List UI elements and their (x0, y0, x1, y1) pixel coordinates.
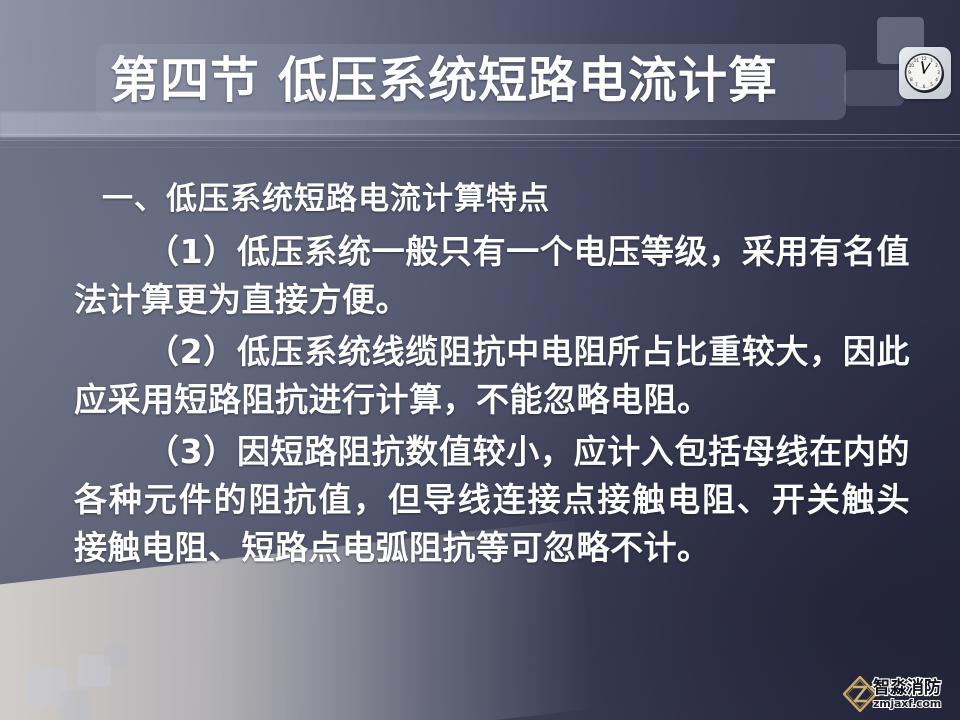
decor-square-bottom-left-2 (60, 690, 90, 720)
watermark-url: zmjaxf.com (873, 698, 941, 709)
svg-text:8: 8 (910, 77, 913, 82)
svg-text:2: 2 (935, 63, 938, 68)
svg-text:9: 9 (908, 70, 911, 75)
title-divider-line-1 (0, 134, 960, 135)
svg-text:7: 7 (915, 82, 918, 87)
body-paragraph-2: （2）低压系统线缆阻抗中电阻所占比重较大，因此应采用短路阻抗进行计算，不能忽略电… (74, 328, 910, 424)
decor-square-bottom-left-4 (104, 645, 128, 667)
page-title: 第四节 低压系统短路电流计算 (110, 48, 870, 114)
watermark: 智淼消防 zmjaxf.com (843, 672, 955, 716)
svg-text:4: 4 (935, 77, 938, 82)
title-divider-line-3 (0, 147, 960, 148)
clock-icon: 12 1 2 3 4 5 6 7 8 9 10 11 (899, 47, 951, 99)
svg-text:5: 5 (930, 82, 933, 87)
presentation-slide: 12 1 2 3 4 5 6 7 8 9 10 11 第四节 低压系统短路电流计… (0, 0, 960, 720)
svg-text:3: 3 (937, 70, 940, 75)
watermark-brand: 智淼消防 (873, 680, 941, 697)
body-paragraph-1: （1）低压系统一般只有一个电压等级，采用有名值法计算更为直接方便。 (74, 228, 910, 324)
svg-text:1: 1 (930, 58, 933, 63)
watermark-text: 智淼消防 zmjaxf.com (873, 680, 941, 709)
svg-text:12: 12 (921, 56, 927, 61)
svg-text:10: 10 (909, 63, 915, 68)
svg-text:6: 6 (923, 84, 926, 89)
title-divider-line-2 (0, 140, 960, 141)
slide-body: 一、低压系统短路电流计算特点 （1）低压系统一般只有一个电压等级，采用有名值法计… (74, 176, 910, 572)
svg-text:11: 11 (914, 58, 920, 63)
zhimiao-logo-icon (843, 676, 877, 712)
section-heading: 一、低压系统短路电流计算特点 (74, 176, 910, 222)
body-paragraph-3: （3）因短路阻抗数值较小，应计入包括母线在内的各种元件的阻抗值，但导线连接点接触… (74, 428, 910, 572)
